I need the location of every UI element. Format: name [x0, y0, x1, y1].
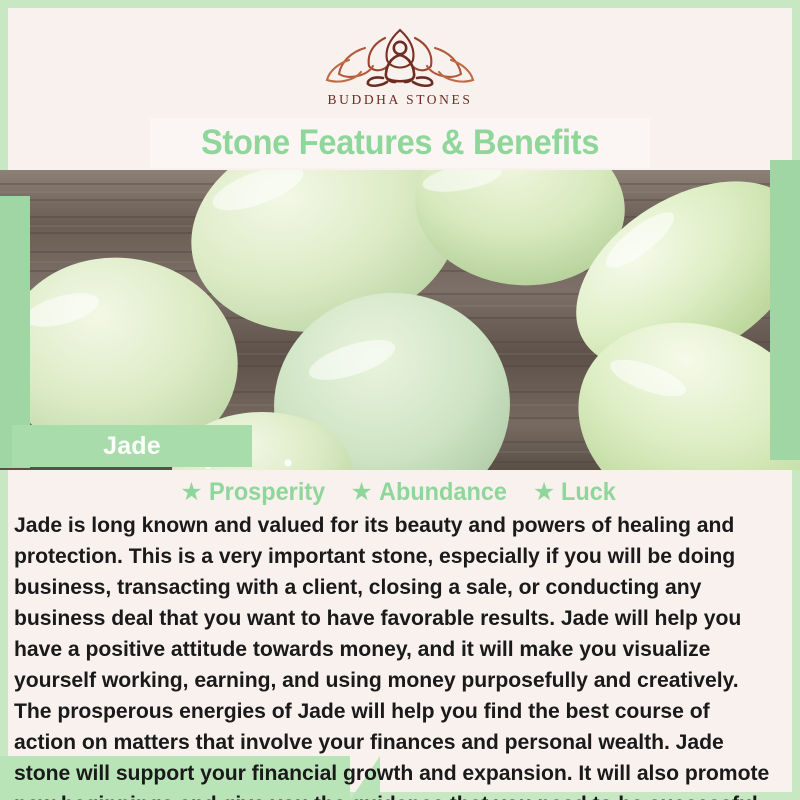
brand-header: BUDDHA STONES	[8, 8, 792, 118]
benefit-label: Luck	[561, 478, 616, 507]
stone-name: Jade	[103, 432, 161, 461]
decorative-bar-right	[770, 160, 800, 460]
benefit-item-prosperity: ★ Prosperity	[180, 478, 332, 507]
benefit-item-abundance: ★ Abundance	[350, 478, 515, 507]
stone-description: Jade is long known and valued for its be…	[14, 510, 774, 800]
benefits-list: ★ Prosperity ★ Abundance ★ Luck	[0, 478, 800, 507]
brand-name: BUDDHA STONES	[328, 92, 473, 108]
star-icon: ★	[180, 480, 202, 505]
section-title-band: Stone Features & Benefits	[150, 118, 650, 168]
benefit-label: Abundance	[379, 478, 507, 507]
star-icon: ★	[533, 480, 555, 505]
benefit-label: Prosperity	[209, 478, 325, 507]
benefit-item-luck: ★ Luck	[533, 478, 620, 507]
page-title: Stone Features & Benefits	[201, 123, 599, 163]
star-icon: ★	[350, 480, 372, 505]
lotus-meditation-icon	[325, 26, 475, 88]
stone-info-poster: BUDDHA STONES Stone Features & Benefits …	[0, 0, 800, 800]
stone-name-badge: Jade	[12, 425, 252, 467]
